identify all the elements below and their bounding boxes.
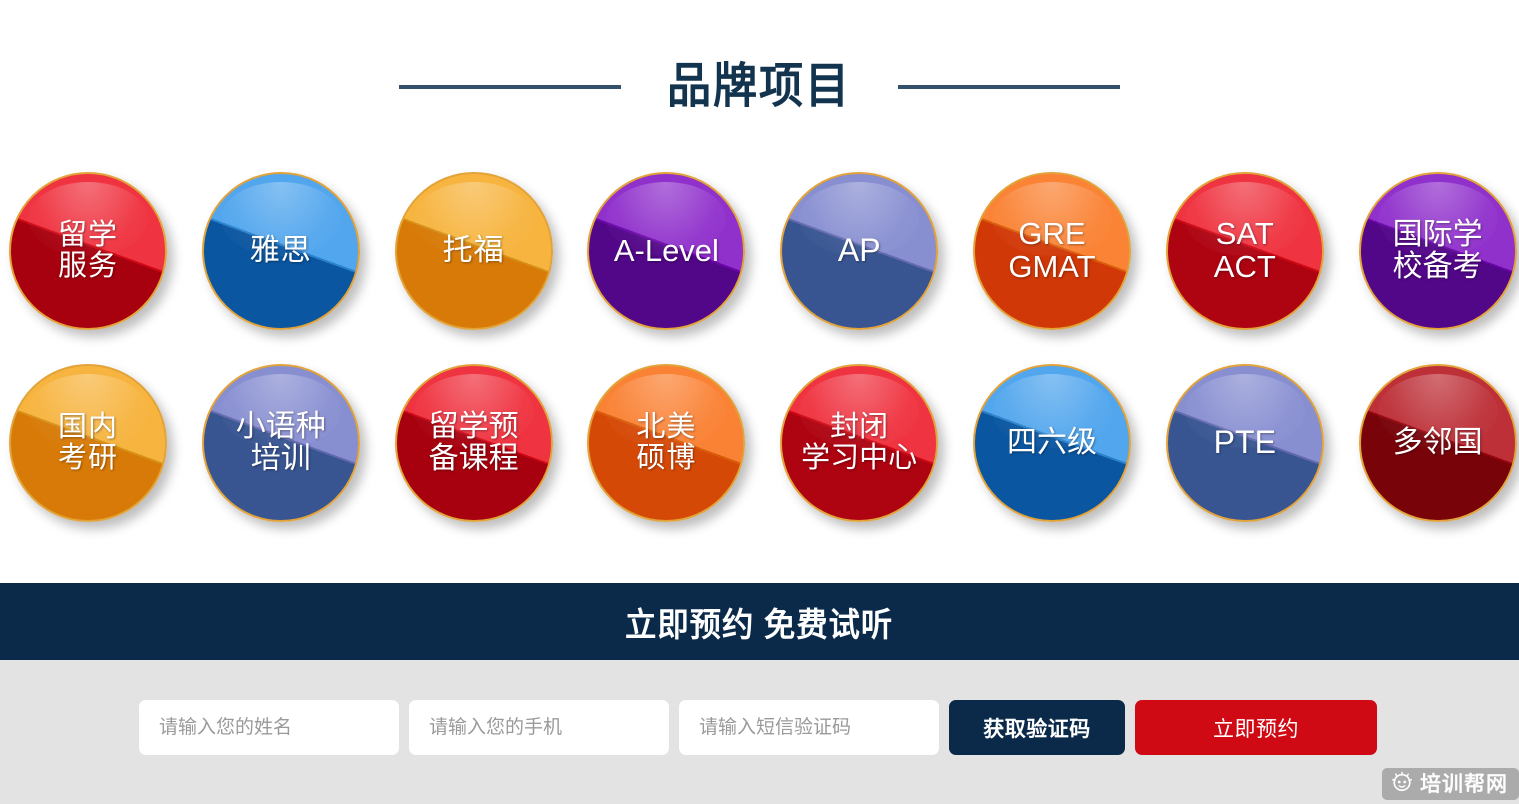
- program-label: 封闭学习中心: [801, 412, 917, 473]
- program-label-line-2: 备课程: [429, 443, 519, 475]
- program-label-line-1: PTE: [1214, 426, 1276, 460]
- program-label: 雅思: [250, 235, 312, 267]
- program-label: 国际学校备考: [1393, 219, 1483, 283]
- watermark-text: 培训帮网: [1420, 774, 1508, 795]
- phone-input[interactable]: [409, 700, 669, 755]
- program-grid: 留学服务雅思托福A-LevelAPGREGMATSATACT国际学校备考国内考研…: [0, 162, 1519, 580]
- program-label-line-2: 硕博: [636, 443, 696, 474]
- sun-face-icon: [1391, 771, 1413, 798]
- program-circle-pte[interactable]: PTE: [1166, 364, 1324, 522]
- program-circle-ap[interactable]: AP: [780, 172, 938, 330]
- site-watermark: 培训帮网: [1382, 768, 1519, 800]
- program-circle-closed-study-center[interactable]: 封闭学习中心: [780, 364, 938, 522]
- program-label-line-1: 留学: [58, 220, 118, 251]
- program-circle-study-abroad-service[interactable]: 留学服务: [9, 172, 167, 330]
- get-sms-code-button[interactable]: 获取验证码: [949, 700, 1125, 755]
- program-circle-a-level[interactable]: A-Level: [587, 172, 745, 330]
- program-circle-intl-school-prep[interactable]: 国际学校备考: [1359, 172, 1517, 330]
- program-label-line-2: 校备考: [1393, 251, 1483, 283]
- program-label-line-1: 雅思: [250, 235, 312, 267]
- program-label: 四六级: [1007, 427, 1097, 459]
- title-rule-left: [399, 85, 621, 89]
- program-label: PTE: [1214, 426, 1276, 460]
- program-label: 留学服务: [58, 220, 118, 281]
- program-label-line-1: 北美: [636, 412, 696, 443]
- submit-reservation-button[interactable]: 立即预约: [1135, 700, 1377, 755]
- program-label-line-1: 封闭: [801, 412, 917, 443]
- program-label-line-1: AP: [838, 234, 881, 268]
- page-title: 品牌项目: [667, 63, 851, 111]
- program-label-line-2: GMAT: [1008, 251, 1095, 284]
- program-label: 小语种培训: [236, 411, 326, 475]
- program-circle-prep-courses[interactable]: 留学预备课程: [395, 364, 553, 522]
- program-circle-north-america-masters-phd[interactable]: 北美硕博: [587, 364, 745, 522]
- program-label-line-1: 小语种: [236, 411, 326, 443]
- program-label-line-1: SAT: [1214, 218, 1276, 251]
- program-label: 托福: [443, 235, 505, 267]
- cta-banner: 立即预约 免费试听: [0, 583, 1519, 660]
- program-label: 北美硕博: [636, 412, 696, 473]
- program-label: A-Level: [614, 235, 719, 268]
- program-label-line-1: 托福: [443, 235, 505, 267]
- title-rule-right: [898, 85, 1120, 89]
- program-label-line-1: 留学预: [429, 411, 519, 443]
- program-label: 多邻国: [1393, 427, 1483, 459]
- program-circle-cet-4-6[interactable]: 四六级: [973, 364, 1131, 522]
- program-circle-minor-language-training[interactable]: 小语种培训: [202, 364, 360, 522]
- name-input[interactable]: [139, 700, 399, 755]
- program-circle-toefl[interactable]: 托福: [395, 172, 553, 330]
- program-label-line-2: 服务: [58, 251, 118, 282]
- reservation-form-strip: 获取验证码 立即预约: [0, 660, 1519, 804]
- program-circle-ielts[interactable]: 雅思: [202, 172, 360, 330]
- program-label-line-1: 国内: [58, 412, 118, 443]
- program-label-line-2: 学习中心: [801, 443, 917, 474]
- program-label: GREGMAT: [1008, 218, 1095, 284]
- cta-banner-text: 立即预约 免费试听: [625, 598, 893, 646]
- program-label-line-1: 多邻国: [1393, 427, 1483, 459]
- program-label: AP: [838, 234, 881, 268]
- program-label-line-2: ACT: [1214, 251, 1276, 284]
- sms-code-input[interactable]: [679, 700, 939, 755]
- program-label: 国内考研: [58, 412, 118, 473]
- program-label-line-2: 培训: [236, 443, 326, 475]
- program-label-line-1: 国际学: [1393, 219, 1483, 251]
- program-label-line-1: GRE: [1008, 218, 1095, 251]
- reservation-form: 获取验证码 立即预约: [139, 700, 1377, 755]
- page-header: 品牌项目: [0, 0, 1519, 162]
- program-label: SATACT: [1214, 218, 1276, 284]
- program-circle-domestic-postgrad[interactable]: 国内考研: [9, 364, 167, 522]
- program-label: 留学预备课程: [429, 411, 519, 475]
- program-circle-sat-act[interactable]: SATACT: [1166, 172, 1324, 330]
- program-label-line-1: 四六级: [1007, 427, 1097, 459]
- program-circle-gre-gmat[interactable]: GREGMAT: [973, 172, 1131, 330]
- program-label-line-1: A-Level: [614, 235, 719, 268]
- program-circle-duolingo[interactable]: 多邻国: [1359, 364, 1517, 522]
- program-label-line-2: 考研: [58, 443, 118, 474]
